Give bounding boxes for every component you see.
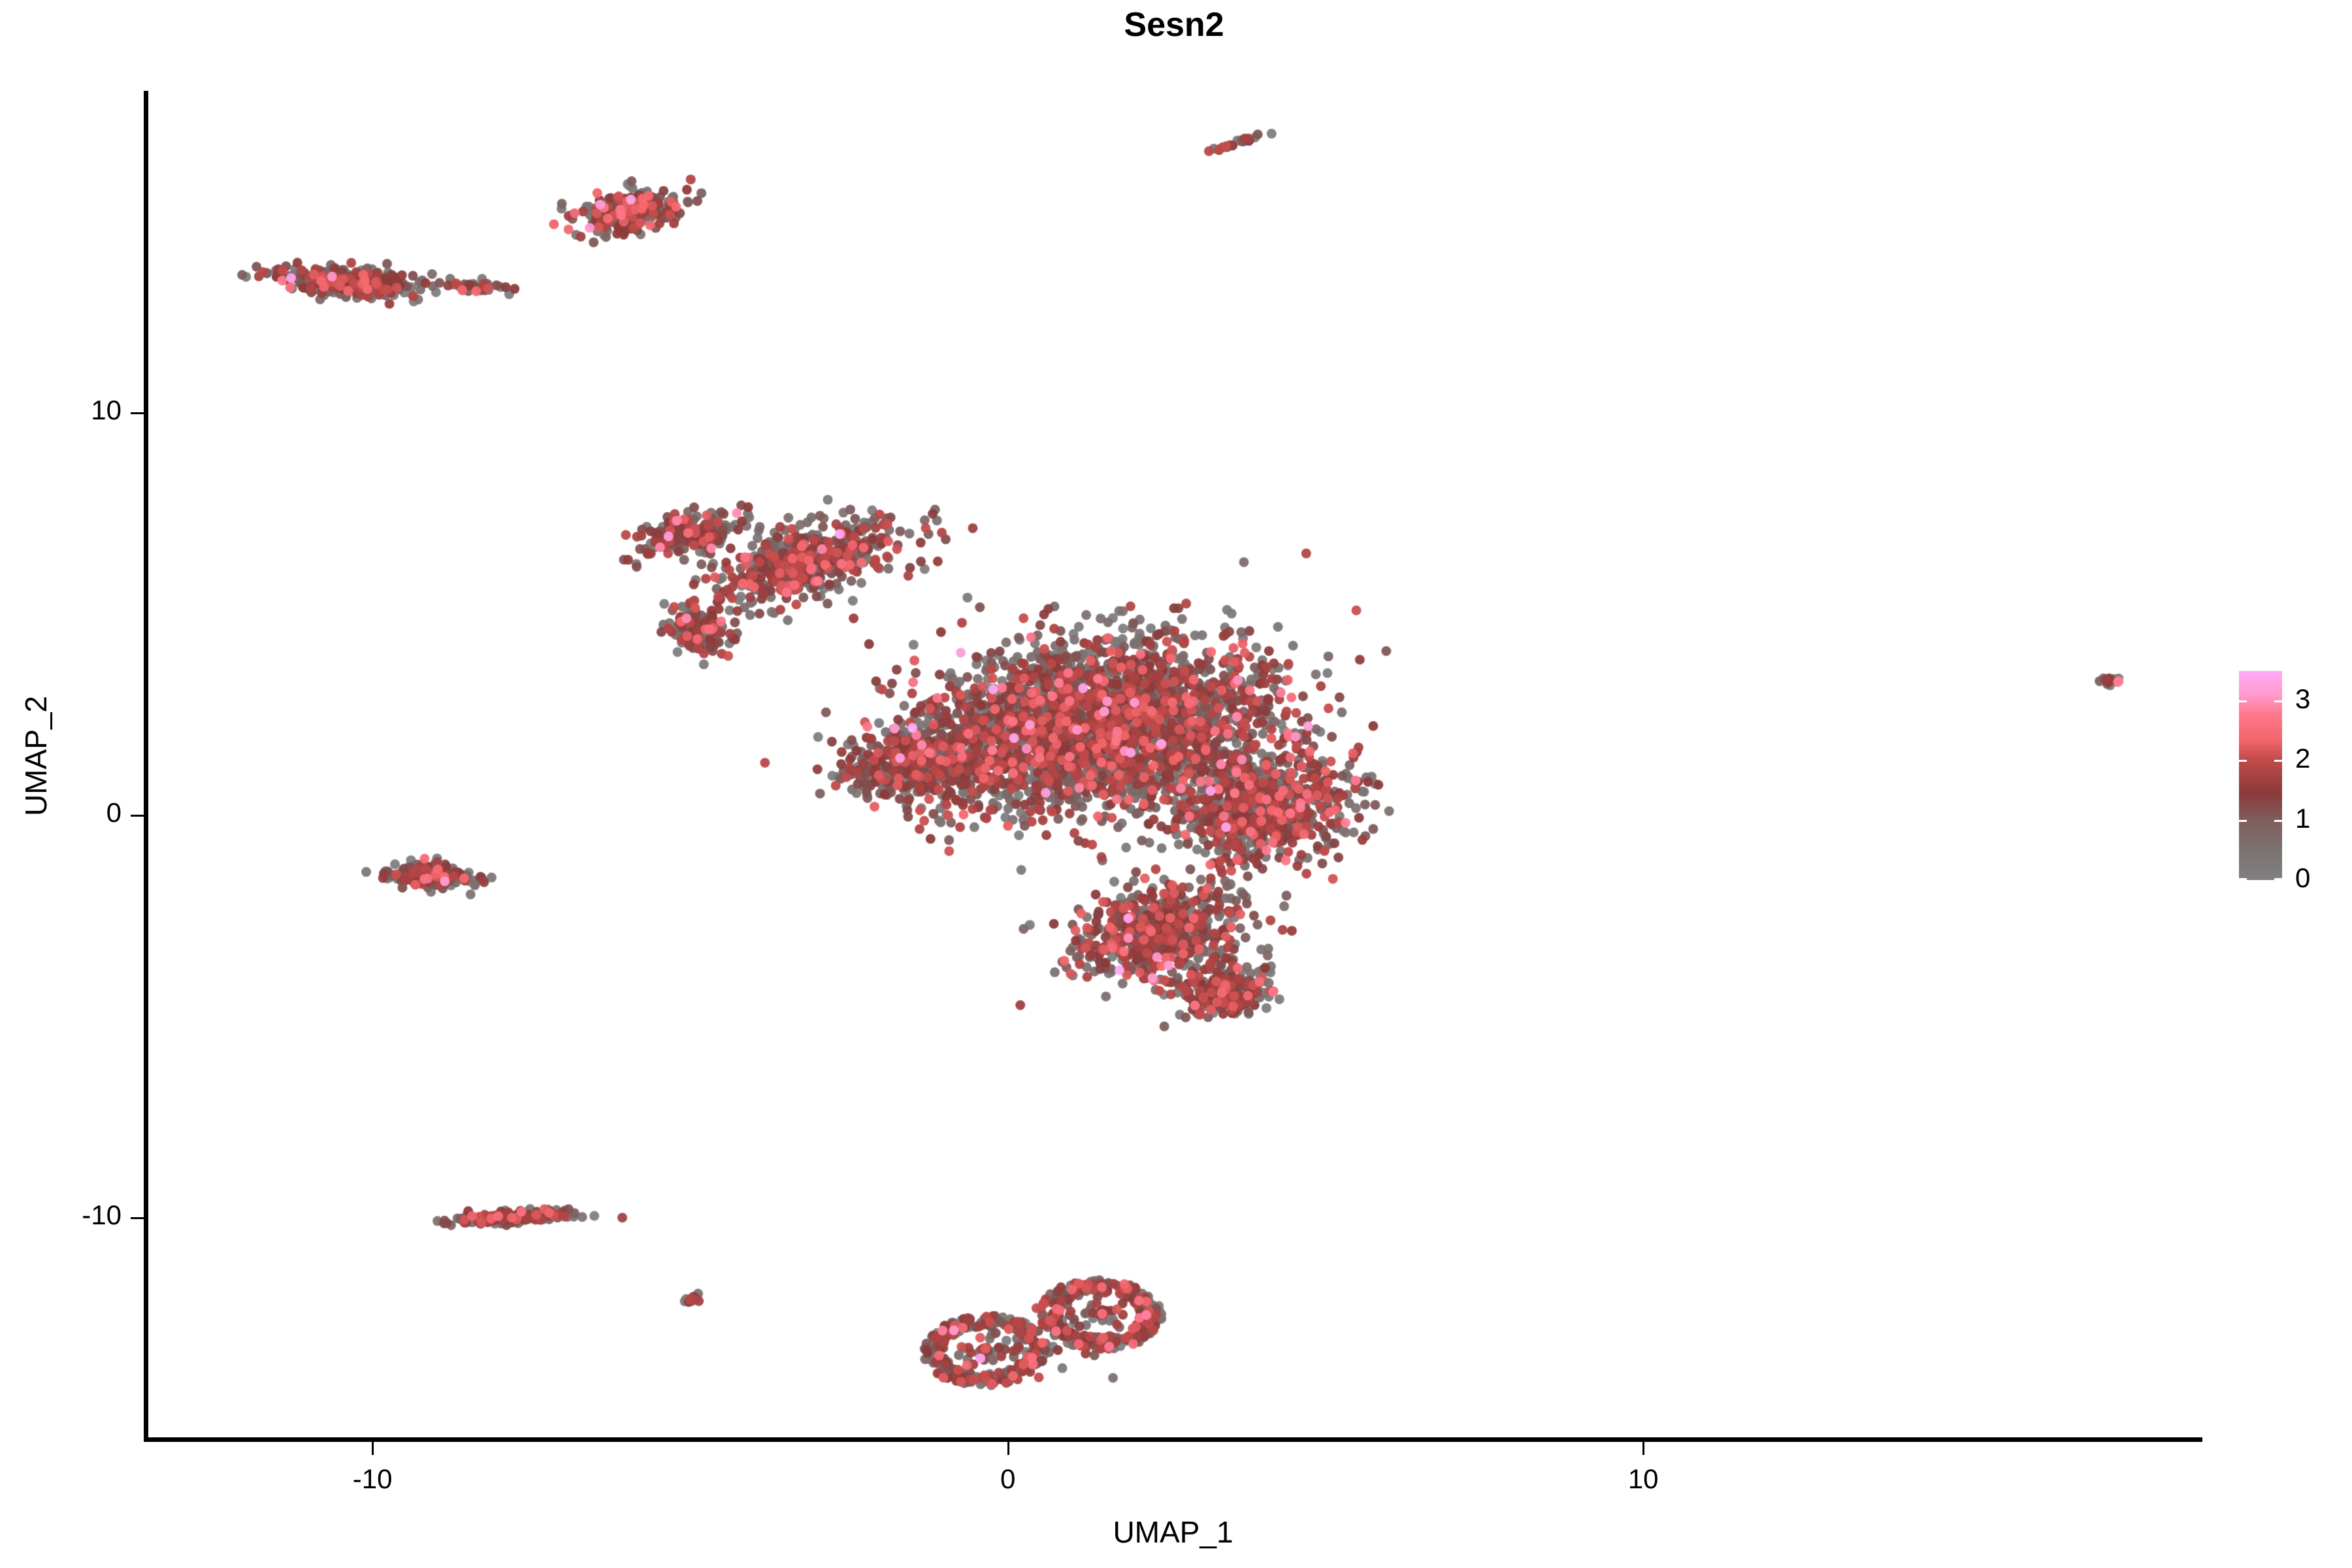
legend-tick-mark — [2274, 878, 2282, 880]
x-tick-label: 10 — [1578, 1463, 1708, 1495]
legend-colorbar[interactable] — [2239, 671, 2282, 880]
legend-label: 1 — [2295, 803, 2310, 834]
legend-tick-mark — [2274, 700, 2282, 702]
legend-tick-mark — [2239, 820, 2247, 822]
y-tick-label: 10 — [0, 395, 122, 426]
x-tick-label: -10 — [307, 1463, 438, 1495]
y-tick-mark — [131, 412, 144, 414]
y-tick-mark — [131, 815, 144, 817]
legend-tick-mark — [2274, 760, 2282, 762]
legend-label: 2 — [2295, 743, 2310, 774]
x-tick-mark — [1642, 1442, 1644, 1455]
x-tick-mark — [1007, 1442, 1009, 1455]
y-axis-label: UMAP_2 — [18, 462, 54, 1050]
color-legend[interactable] — [2239, 671, 2282, 880]
plot-root: Sesn2 -10010 -10010 UMAP_1 UMAP_2 0123 — [0, 0, 2352, 1568]
x-tick-label: 0 — [943, 1463, 1073, 1495]
y-axis-line — [144, 91, 148, 1442]
scatter-panel[interactable] — [144, 91, 2202, 1439]
y-tick-mark — [131, 1217, 144, 1219]
umap-scatter-canvas[interactable] — [144, 91, 2202, 1439]
page-title: Sesn2 — [0, 5, 2350, 44]
x-axis-label: UMAP_1 — [144, 1514, 2202, 1550]
x-tick-mark — [372, 1442, 374, 1455]
legend-tick-mark — [2239, 760, 2247, 762]
legend-label: 0 — [2295, 862, 2310, 894]
legend-tick-mark — [2239, 700, 2247, 702]
legend-tick-mark — [2274, 820, 2282, 822]
legend-label: 3 — [2295, 683, 2310, 715]
legend-tick-mark — [2239, 878, 2247, 880]
x-axis-line — [144, 1437, 2202, 1442]
y-tick-label: -10 — [0, 1200, 122, 1231]
